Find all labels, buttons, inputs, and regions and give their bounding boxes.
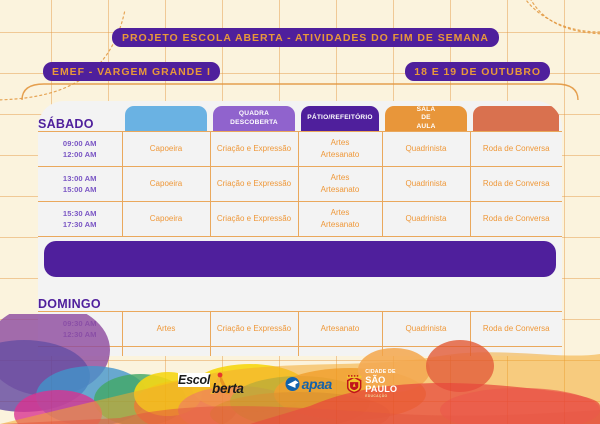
time-start: 13:00 AM [63,174,97,183]
escola-aberta-word2: berta [212,381,244,396]
apaa-bird-icon [285,377,300,391]
time-end: 12:30 AM [63,330,97,339]
table-row: 15:30 AM 17:30 AM Capoeira Criação e Exp… [38,202,562,237]
tail-cell [470,347,562,357]
activity-cell: Capoeira [122,202,210,237]
activity-cell: ArtesArtesanato [298,202,382,237]
tail-cell [38,347,122,357]
purple-separator-band-row [38,237,562,282]
activity-cell: Roda de Conversa [470,312,562,347]
time-end: 17:30 AM [63,220,97,229]
sunday-header-cell-4 [382,281,470,312]
time-cell: 09:00 AM 12:00 AM [38,132,122,167]
header-chip-1 [125,106,207,131]
activity-cell: Criação e Expressão [210,202,298,237]
activity-cell: Capoeira [122,167,210,202]
header-cell-2: QUADRADESCOBERTA [210,101,298,132]
time-cell: 15:30 AM 17:30 AM [38,202,122,237]
poster-root: PROJETO ESCOLA ABERTA - ATIVIDADES DO FI… [0,0,600,424]
activity-cell: Roda de Conversa [470,167,562,202]
table-header-row: SÁBADO QUADRADESCOBERTA PÁTIO/REFEITÓRIO… [38,101,562,132]
header-cell-4: SALADEAULA [382,101,470,132]
schedule-card: SÁBADO QUADRADESCOBERTA PÁTIO/REFEITÓRIO… [38,101,562,356]
time-end: 15:00 AM [63,185,97,194]
table-row: 13:00 AM 15:00 AM Capoeira Criação e Exp… [38,167,562,202]
header-chip-quadra-descoberta: QUADRADESCOBERTA [213,106,295,131]
purple-separator-band [44,241,556,277]
time-start: 09:30 AM [63,319,97,328]
sao-paulo-city-logo: CIDADE DE SÃO PAULO EDUCAÇÃO [346,370,418,399]
sao-paulo-coat-of-arms-icon [346,375,362,394]
activity-cell: Quadrinista [382,202,470,237]
tail-cell [122,347,210,357]
purple-separator-band-cell [38,237,562,282]
activity-cell: Quadrinista [382,167,470,202]
activity-cell: Criação e Expressão [210,167,298,202]
activity-cell: Capoeira [122,132,210,167]
sunday-header-cell-1 [122,281,210,312]
activity-cell: Criação e Expressão [210,312,298,347]
time-cell: 13:00 AM 15:00 AM [38,167,122,202]
time-start: 09:00 AM [63,139,97,148]
escola-aberta-word1: Escol [178,373,210,387]
header-chip-patio-refeitorio: PÁTIO/REFEITÓRIO [301,106,379,131]
header-chip-sala-de-aula: SALADEAULA [385,106,467,131]
tail-cell [210,347,298,357]
activity-cell: Roda de Conversa [470,202,562,237]
activity-cell: Criação e Expressão [210,132,298,167]
day-label-saturday: SÁBADO [38,101,122,132]
activity-cell: Roda de Conversa [470,132,562,167]
table-row: 09:00 AM 12:00 AM Capoeira Criação e Exp… [38,132,562,167]
activity-cell: ArtesArtesanato [298,167,382,202]
day-label-sunday: DOMINGO [38,281,122,312]
activity-cell: ArtesArtesanato [298,132,382,167]
tail-cell [298,347,382,357]
activity-cell: Artes [122,312,210,347]
table-header-row-sunday: DOMINGO [38,281,562,312]
sao-paulo-line1: CIDADE DE [365,370,418,375]
sunday-header-cell-3 [298,281,382,312]
sao-paulo-wordmark: CIDADE DE SÃO PAULO EDUCAÇÃO [365,370,418,399]
time-cell: 09:30 AM 12:30 AM [38,312,122,347]
apaa-wordmark: apaa [302,377,332,391]
sunday-header-cell-2 [210,281,298,312]
header-cell-1 [122,101,210,132]
schedule-table: SÁBADO QUADRADESCOBERTA PÁTIO/REFEITÓRIO… [38,101,562,356]
logos-strip: Escol berta apaa [178,371,418,397]
tail-cell [382,347,470,357]
table-tail-row [38,347,562,357]
header-chip-5 [473,106,559,131]
school-name-pill: EMEF - VARGEM GRANDE I [43,62,220,81]
activity-cell: Quadrinista [382,312,470,347]
activity-cell: Artesanato [298,312,382,347]
time-end: 12:00 AM [63,150,97,159]
header-cell-3: PÁTIO/REFEITÓRIO [298,101,382,132]
sao-paulo-line3: EDUCAÇÃO [365,395,418,398]
table-row: 09:30 AM 12:30 AM Artes Criação e Expres… [38,312,562,347]
poster-title-pill: PROJETO ESCOLA ABERTA - ATIVIDADES DO FI… [112,28,499,47]
sao-paulo-line2: SÃO PAULO [365,376,418,394]
activity-cell: Quadrinista [382,132,470,167]
header-cell-5 [470,101,562,132]
event-dates-pill: 18 E 19 DE OUTUBRO [405,62,550,81]
apaa-logo: apaa [285,374,332,394]
sunday-header-cell-5 [470,281,562,312]
time-start: 15:30 AM [63,209,97,218]
escola-aberta-logo: Escol berta [178,372,271,396]
